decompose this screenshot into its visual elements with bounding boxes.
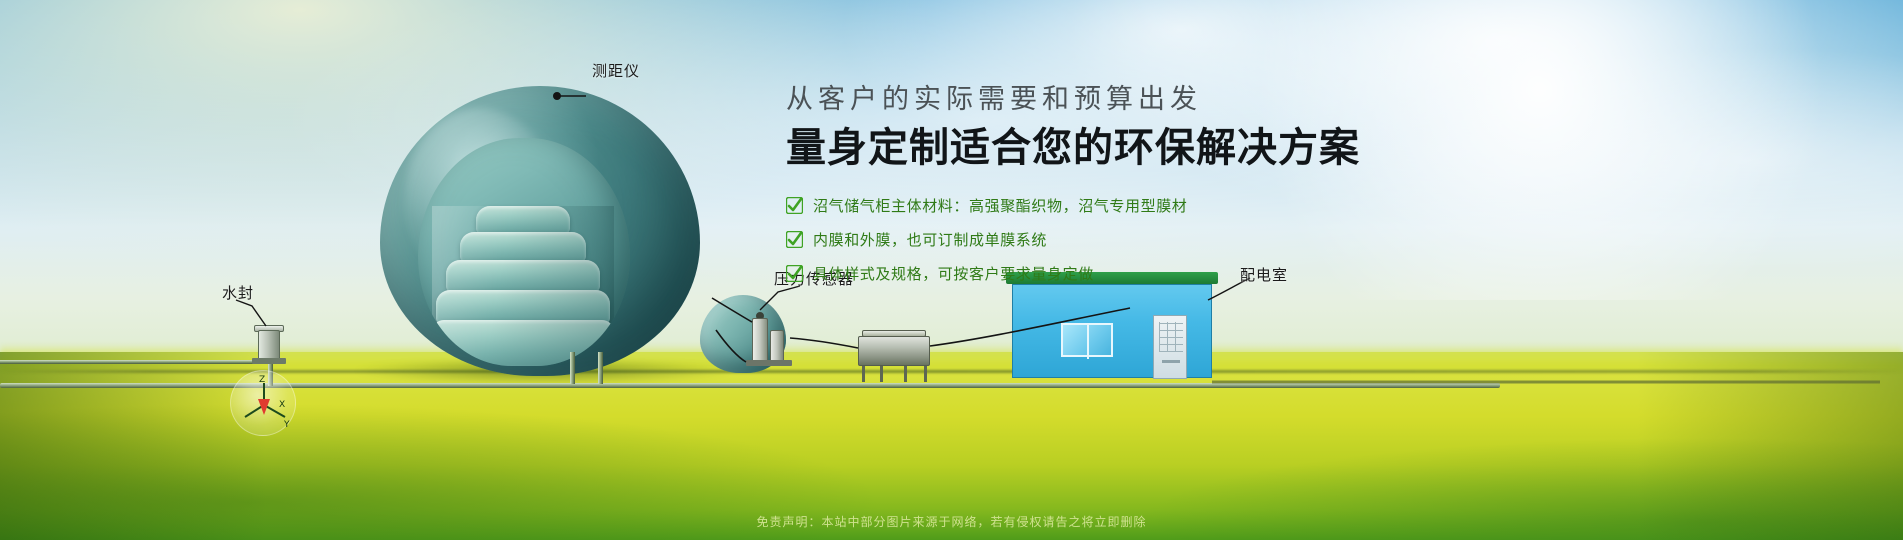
bullet-label: 沼气储气柜主体材料：高强聚酯织物，沼气专用型膜材 bbox=[813, 195, 1187, 216]
sensor-cable bbox=[716, 330, 746, 362]
disclaimer-text: 免责声明：本站中部分图片来源于网络，若有侵权请告之将立即删除 bbox=[0, 513, 1903, 530]
axis-label-z: Z bbox=[259, 375, 265, 385]
feature-bullet-list: 沼气储气柜主体材料：高强聚酯织物，沼气专用型膜材 内膜和外膜，也可订制成单膜系统 bbox=[786, 195, 1506, 284]
list-item: 沼气储气柜主体材料：高强聚酯织物，沼气专用型膜材 bbox=[786, 195, 1506, 216]
check-icon bbox=[786, 265, 803, 282]
sensor-cable bbox=[712, 298, 752, 322]
rangefinder-device bbox=[553, 92, 561, 100]
axis-label-y: Y bbox=[283, 420, 290, 430]
banner-headline: 量身定制适合您的环保解决方案 bbox=[786, 123, 1506, 173]
axis-compass: Z X Y bbox=[230, 370, 296, 436]
label-water-seal: 水封 bbox=[222, 282, 254, 303]
label-rangefinder: 测距仪 bbox=[592, 60, 640, 81]
bullet-label: 内膜和外膜，也可订制成单膜系统 bbox=[813, 229, 1047, 250]
check-icon bbox=[786, 231, 803, 248]
banner-copy: 从客户的实际需要和预算出发 量身定制适合您的环保解决方案 沼气储气柜主体材料：高… bbox=[786, 82, 1506, 297]
house-cable bbox=[930, 308, 1130, 346]
check-icon bbox=[786, 197, 803, 214]
list-item: 具体样式及规格，可按客户要求量身定做 bbox=[786, 263, 1506, 284]
list-item: 内膜和外膜，也可订制成单膜系统 bbox=[786, 229, 1506, 250]
axis-label-x: X bbox=[279, 400, 285, 410]
banner-subtitle: 从客户的实际需要和预算出发 bbox=[786, 82, 1506, 117]
banner-stage: Z X Y 测距仪 水封 压力传感器 配电室 从客户的实际需要和预算出发 量身定… bbox=[0, 0, 1903, 540]
water-seal-leader bbox=[236, 300, 266, 326]
bullet-label: 具体样式及规格，可按客户要求量身定做 bbox=[813, 263, 1094, 284]
blower-cable bbox=[790, 338, 858, 348]
